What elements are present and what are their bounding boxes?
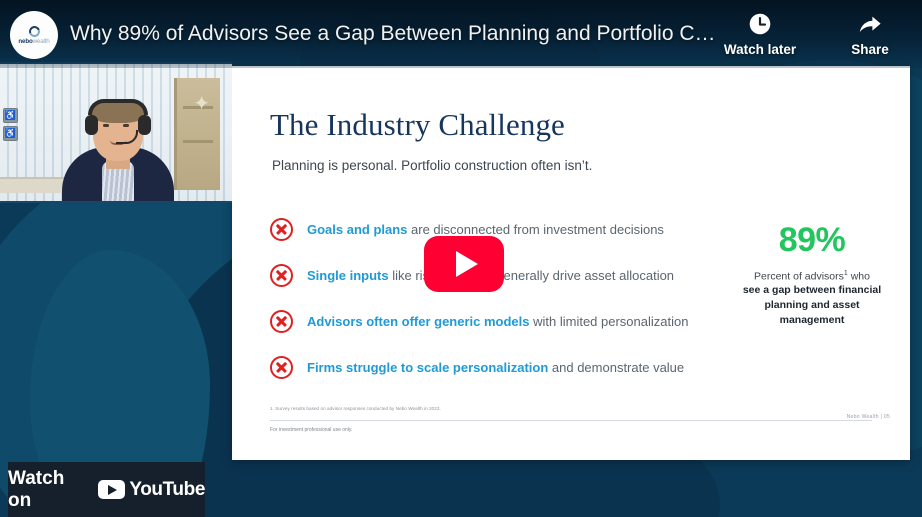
clock-icon [747,10,773,38]
watch-later-label: Watch later [724,42,796,57]
channel-avatar[interactable]: nebowealth [10,11,58,59]
stat-lead: Percent of advisors1 who [732,270,892,283]
youtube-play-icon [98,480,125,499]
nebo-logo-icon [27,24,42,39]
video-title[interactable]: Why 89% of Advisors See a Gap Between Pl… [70,22,716,46]
statistic-callout: 89% Percent of advisors1 who see a gap b… [732,221,892,328]
challenge-bullet-list: Goals and plans are disconnected from in… [270,206,700,390]
headset-earcup [138,115,151,135]
bullet-strong: Firms struggle to scale personalization [307,360,548,375]
player-header-bar: nebowealth Why 89% of Advisors See a Gap… [0,0,922,68]
footer-divider [270,420,872,421]
red-x-circle-icon [270,310,293,333]
slide-footnote: 1. Survey results based on advisor respo… [270,406,441,411]
stat-lead-text: Percent of advisors [754,271,844,283]
webcam-wall-sign: ♿ [3,126,18,141]
watch-on-label: Watch on [8,468,86,512]
youtube-video-player[interactable]: The Industry Challenge Planning is perso… [0,0,922,517]
play-button[interactable] [424,236,504,292]
list-item: Advisors often offer generic models with… [270,298,700,344]
red-x-circle-icon [270,356,293,379]
bullet-rest: are disconnected from investment decisio… [407,222,664,237]
presenter-eye [123,124,129,127]
header-actions: Watch later Share [716,10,914,57]
play-triangle-icon [456,251,478,277]
presenter-eye [103,124,109,127]
slide-title: The Industry Challenge [270,107,565,143]
presentation-slide: The Industry Challenge Planning is perso… [232,66,910,460]
bullet-text: Firms struggle to scale personalization … [307,360,684,375]
slide-disclaimer: For investment professional use only. [270,427,352,433]
stat-lead-tail: who [848,271,870,283]
headset-earcup [85,115,98,135]
watch-on-youtube-button[interactable]: Watch on YouTube [8,462,205,517]
share-arrow-icon [857,10,883,38]
bullet-text: Goals and plans are disconnected from in… [307,222,664,237]
bullet-rest: and demonstrate value [548,360,684,375]
bullet-strong: Advisors often offer generic models [307,314,530,329]
channel-name-label: nebowealth [18,38,49,45]
presenter-webcam-feed: ✦ ♿ ♿ [0,62,232,203]
youtube-logo: YouTube [98,479,205,501]
presenter-avatar [62,81,174,201]
share-label: Share [851,42,889,57]
red-x-circle-icon [270,218,293,241]
red-x-circle-icon [270,264,293,287]
stat-value: 89% [732,221,892,260]
youtube-wordmark: YouTube [129,479,205,501]
logo-word-bold: nebo [18,38,32,45]
bullet-rest: with limited personalization [530,314,689,329]
list-item: Firms struggle to scale personalization … [270,344,700,390]
bullet-strong: Single inputs [307,268,389,283]
watch-later-button[interactable]: Watch later [716,10,804,57]
headset-band [88,99,148,115]
bullet-strong: Goals and plans [307,222,407,237]
slide-footer-brand: Nebo Wealth | 05 [847,414,890,420]
slide-subtitle: Planning is personal. Portfolio construc… [272,158,592,173]
share-button[interactable]: Share [826,10,914,57]
logo-word-light: wealth [33,38,50,45]
stat-emphasis: see a gap between financial planning and… [732,283,892,329]
webcam-star-decor: ✦ [193,94,210,114]
bullet-text: Advisors often offer generic models with… [307,314,688,329]
webcam-wall-sign: ♿ [3,108,18,123]
